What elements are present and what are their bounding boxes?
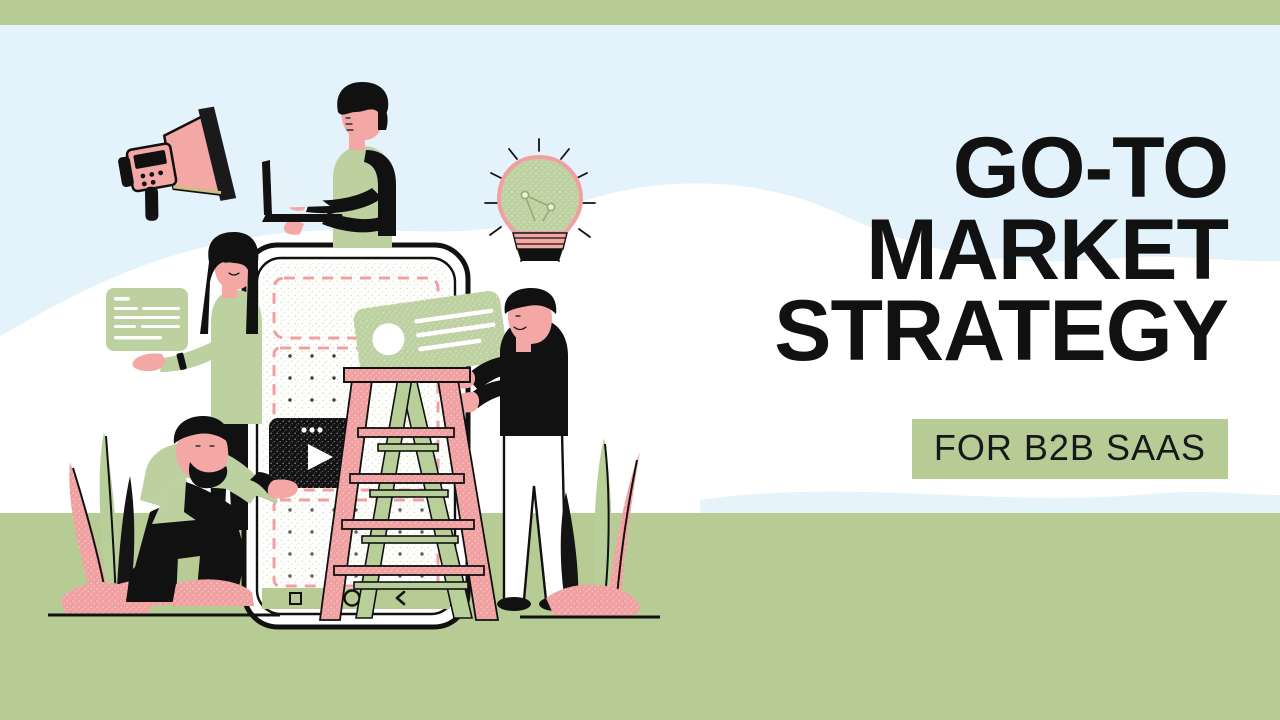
headline-line-1: GO-TO [608,128,1228,210]
megaphone-icon [112,106,238,226]
slide-canvas: GO-TO MARKET STRATEGY FOR B2B SAAS [0,0,1280,720]
subtitle-badge-wrap: FOR B2B SAAS [608,419,1228,479]
lightbulb-icon [485,139,595,261]
headline-line-2: MARKET [608,210,1228,292]
status-badge: FOR B2B SAAS [912,419,1228,479]
person-with-laptop [262,82,396,248]
headline-line-3: STRATEGY [608,291,1228,373]
content-card-left [106,288,188,351]
page-title: GO-TO MARKET STRATEGY [608,128,1228,373]
title-block: GO-TO MARKET STRATEGY FOR B2B SAAS [608,128,1228,479]
